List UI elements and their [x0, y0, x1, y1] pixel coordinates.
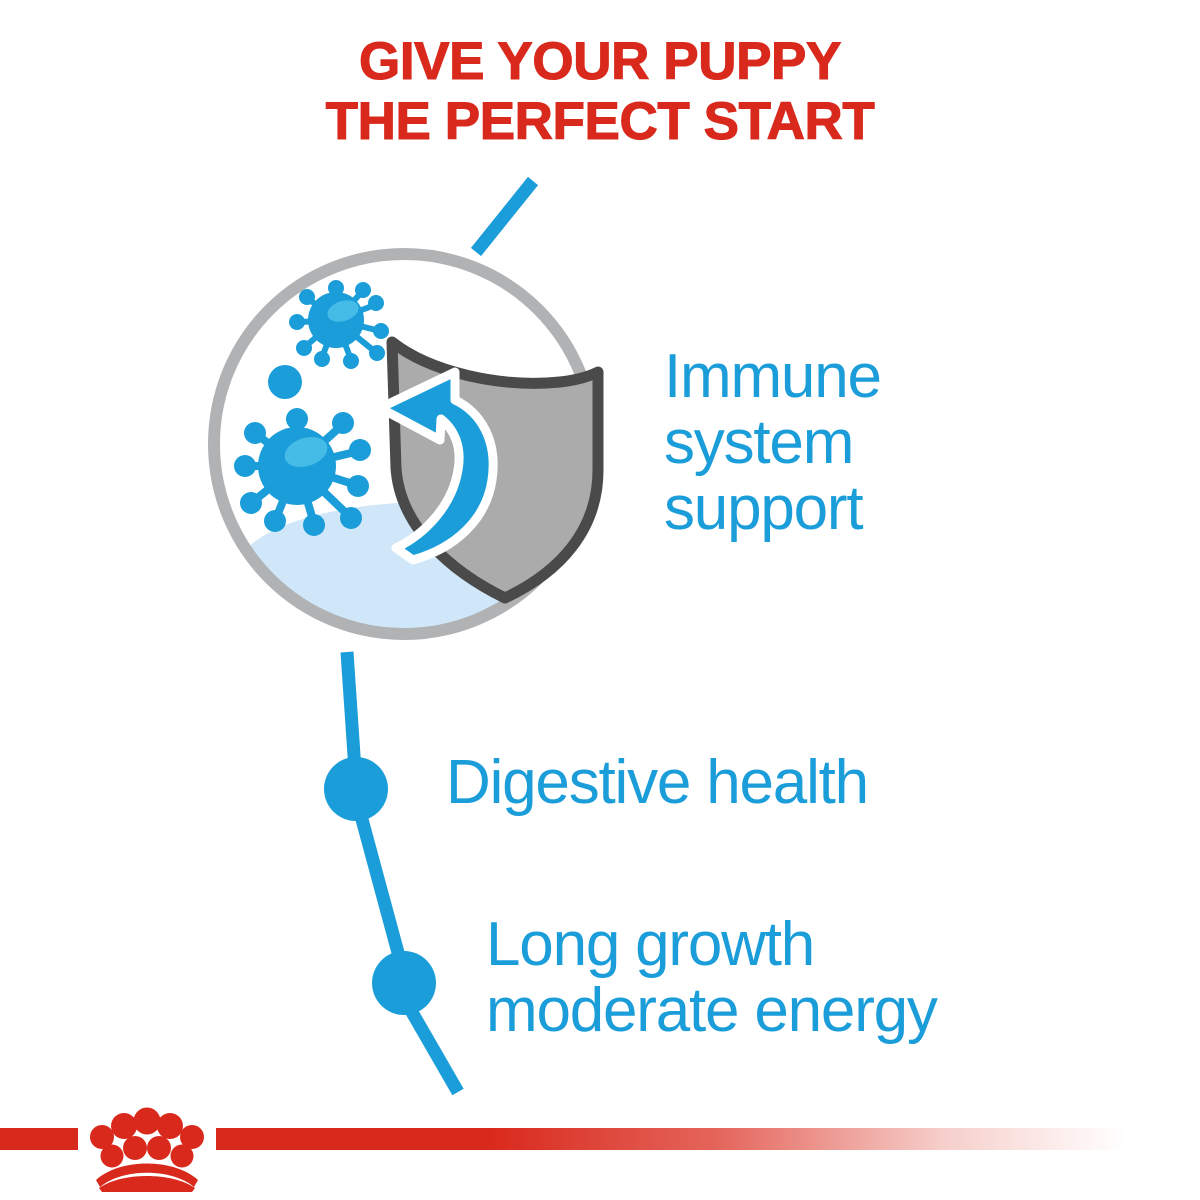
footer-bar-left: [0, 1128, 78, 1150]
benefit-digestive-line-1: Digestive health: [446, 750, 868, 816]
benefit-immune-line-2: system: [664, 410, 881, 476]
benefit-growth-line-2: moderate energy: [486, 978, 937, 1044]
virus-dot-icon: [268, 365, 302, 399]
benefit-immune-line-3: support: [664, 476, 881, 542]
benefit-growth-line-1: Long growth: [486, 912, 937, 978]
benefit-label-immune-system-support: Immune system support: [664, 344, 881, 542]
royal-canin-crown-icon: [72, 1100, 222, 1192]
connector-line-segment-1: [347, 652, 355, 770]
connector-node-growth: [372, 951, 436, 1015]
benefit-immune-line-1: Immune: [664, 344, 881, 410]
virus-icon-small: [289, 280, 389, 369]
connector-line-segment-2: [360, 812, 400, 960]
footer-bar-right: [216, 1128, 1126, 1150]
infographic-poster: GIVE YOUR PUPPY THE PERFECT START: [0, 0, 1200, 1200]
benefit-label-long-growth-moderate-energy: Long growth moderate energy: [486, 912, 937, 1044]
connector-node-digestive: [324, 757, 388, 821]
footer: [0, 1100, 1200, 1200]
connector-line-segment-3: [409, 1007, 458, 1092]
benefit-label-digestive-health: Digestive health: [446, 750, 868, 816]
connector-line-top: [476, 181, 533, 252]
virus-icon-large: [234, 408, 371, 536]
